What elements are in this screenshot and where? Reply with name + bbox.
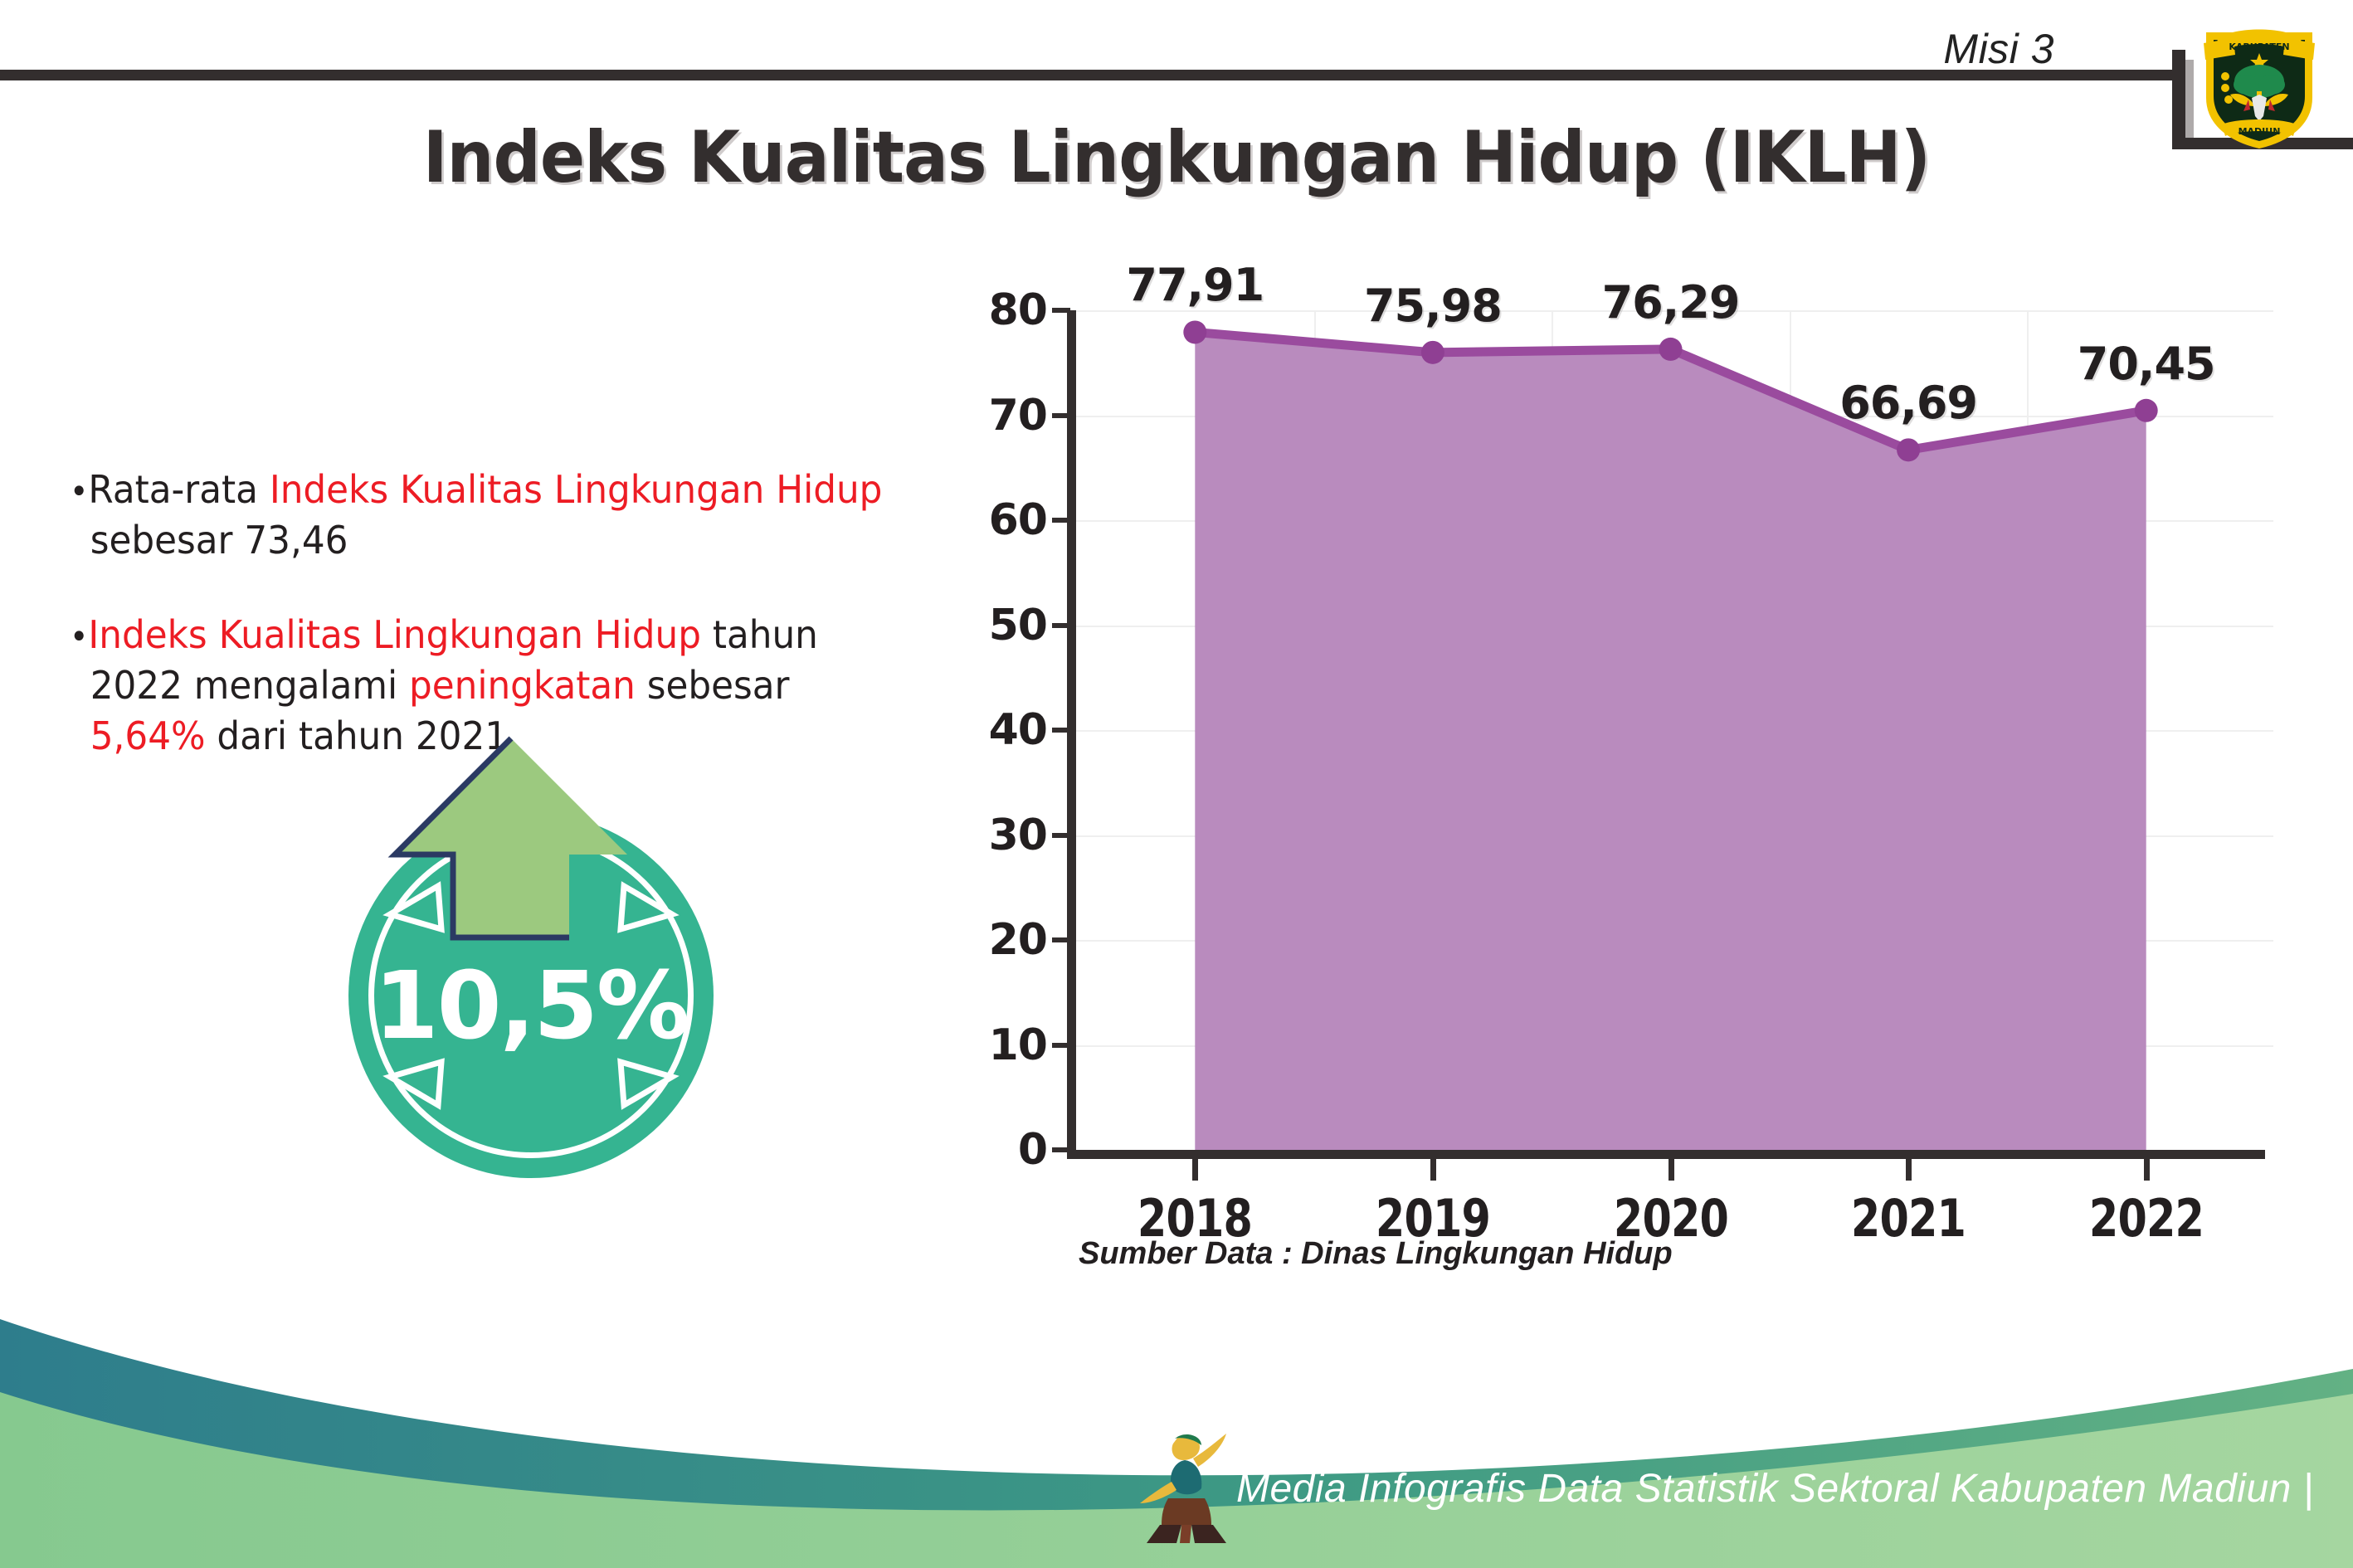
page-title: Indeks Kualitas Lingkungan Hidup (IKLH) <box>82 116 2270 199</box>
data-label: 66,69 <box>1839 377 1977 429</box>
bullet-2-part-1: Indeks Kualitas Lingkungan Hidup <box>88 612 701 657</box>
data-point-marker <box>1897 438 1920 461</box>
y-tick-label: 50 <box>989 601 1047 650</box>
bullet-2-part-3: peningkatan <box>409 663 636 708</box>
y-tick-label: 10 <box>989 1020 1047 1070</box>
badge-percentage: 10,5% <box>348 952 714 1060</box>
y-tick-mark <box>1052 833 1070 838</box>
bullet-2-part-5: 5,64% <box>90 713 206 758</box>
x-tick-label: 2021 <box>1851 1188 1966 1249</box>
bullet-dot: • <box>70 618 88 656</box>
y-tick-mark <box>1052 1043 1070 1048</box>
dancer-logo-icon <box>1135 1427 1235 1543</box>
area-series <box>1076 310 2265 1150</box>
x-tick-mark <box>2144 1159 2150 1181</box>
source-note: Sumber Data : Dinas Lingkungan Hidup <box>1079 1236 1673 1272</box>
y-tick-label: 20 <box>989 915 1047 965</box>
iklh-area-chart: 01020304050607080 77,9175,9876,2966,6970… <box>979 299 2273 1178</box>
x-tick-mark <box>1192 1159 1198 1181</box>
y-tick-label: 60 <box>989 495 1047 545</box>
y-tick-mark <box>1052 937 1070 942</box>
bullet-1-part-1: Rata-rata <box>88 467 269 512</box>
mission-label: Misi 3 <box>1943 25 2054 73</box>
data-label: 76,29 <box>1602 276 1740 329</box>
x-tick-mark <box>1430 1159 1436 1181</box>
bullet-dot: • <box>70 473 88 511</box>
y-tick-mark <box>1052 728 1070 733</box>
area-fill <box>1195 332 2146 1150</box>
y-tick-label: 30 <box>989 811 1047 860</box>
data-label: 75,98 <box>1364 280 1502 332</box>
bullet-item-1: •Rata-rata Indeks Kualitas Lingkungan Hi… <box>70 465 905 565</box>
infographic-slide: Misi 3 KABUPATEN MADIUN <box>0 0 2353 1568</box>
y-axis-line <box>1067 310 1076 1157</box>
bullet-1-part-3: sebesar 73,46 <box>90 518 348 562</box>
x-tick-mark <box>1669 1159 1674 1181</box>
data-point-marker <box>1183 320 1206 343</box>
y-tick-label: 80 <box>989 285 1047 335</box>
x-tick-mark <box>1906 1159 1912 1181</box>
y-tick-mark <box>1052 623 1070 628</box>
y-tick-label: 40 <box>989 705 1047 755</box>
increase-badge: 10,5% <box>305 730 737 1195</box>
data-point-marker <box>1659 338 1683 361</box>
y-tick-mark <box>1052 1147 1070 1152</box>
footer-caption: Media Infografis Data Statistik Sektoral… <box>1236 1466 2314 1512</box>
bullet-1-part-2: Indeks Kualitas Lingkungan Hidup <box>270 467 883 512</box>
data-label: 70,45 <box>2078 338 2215 390</box>
bullet-2-part-4: sebesar <box>636 663 790 708</box>
y-tick-mark <box>1052 413 1070 418</box>
data-point-marker <box>2135 399 2158 422</box>
data-label: 77,91 <box>1126 259 1264 311</box>
x-axis-line <box>1067 1150 2265 1159</box>
x-tick-label: 2022 <box>2089 1188 2204 1249</box>
y-tick-label: 0 <box>1018 1125 1047 1175</box>
y-tick-mark <box>1052 308 1070 313</box>
data-point-marker <box>1421 341 1444 364</box>
header-rule <box>0 70 2178 80</box>
y-tick-mark <box>1052 518 1070 523</box>
y-tick-label: 70 <box>989 391 1047 441</box>
svg-text:KABUPATEN: KABUPATEN <box>2229 41 2289 52</box>
